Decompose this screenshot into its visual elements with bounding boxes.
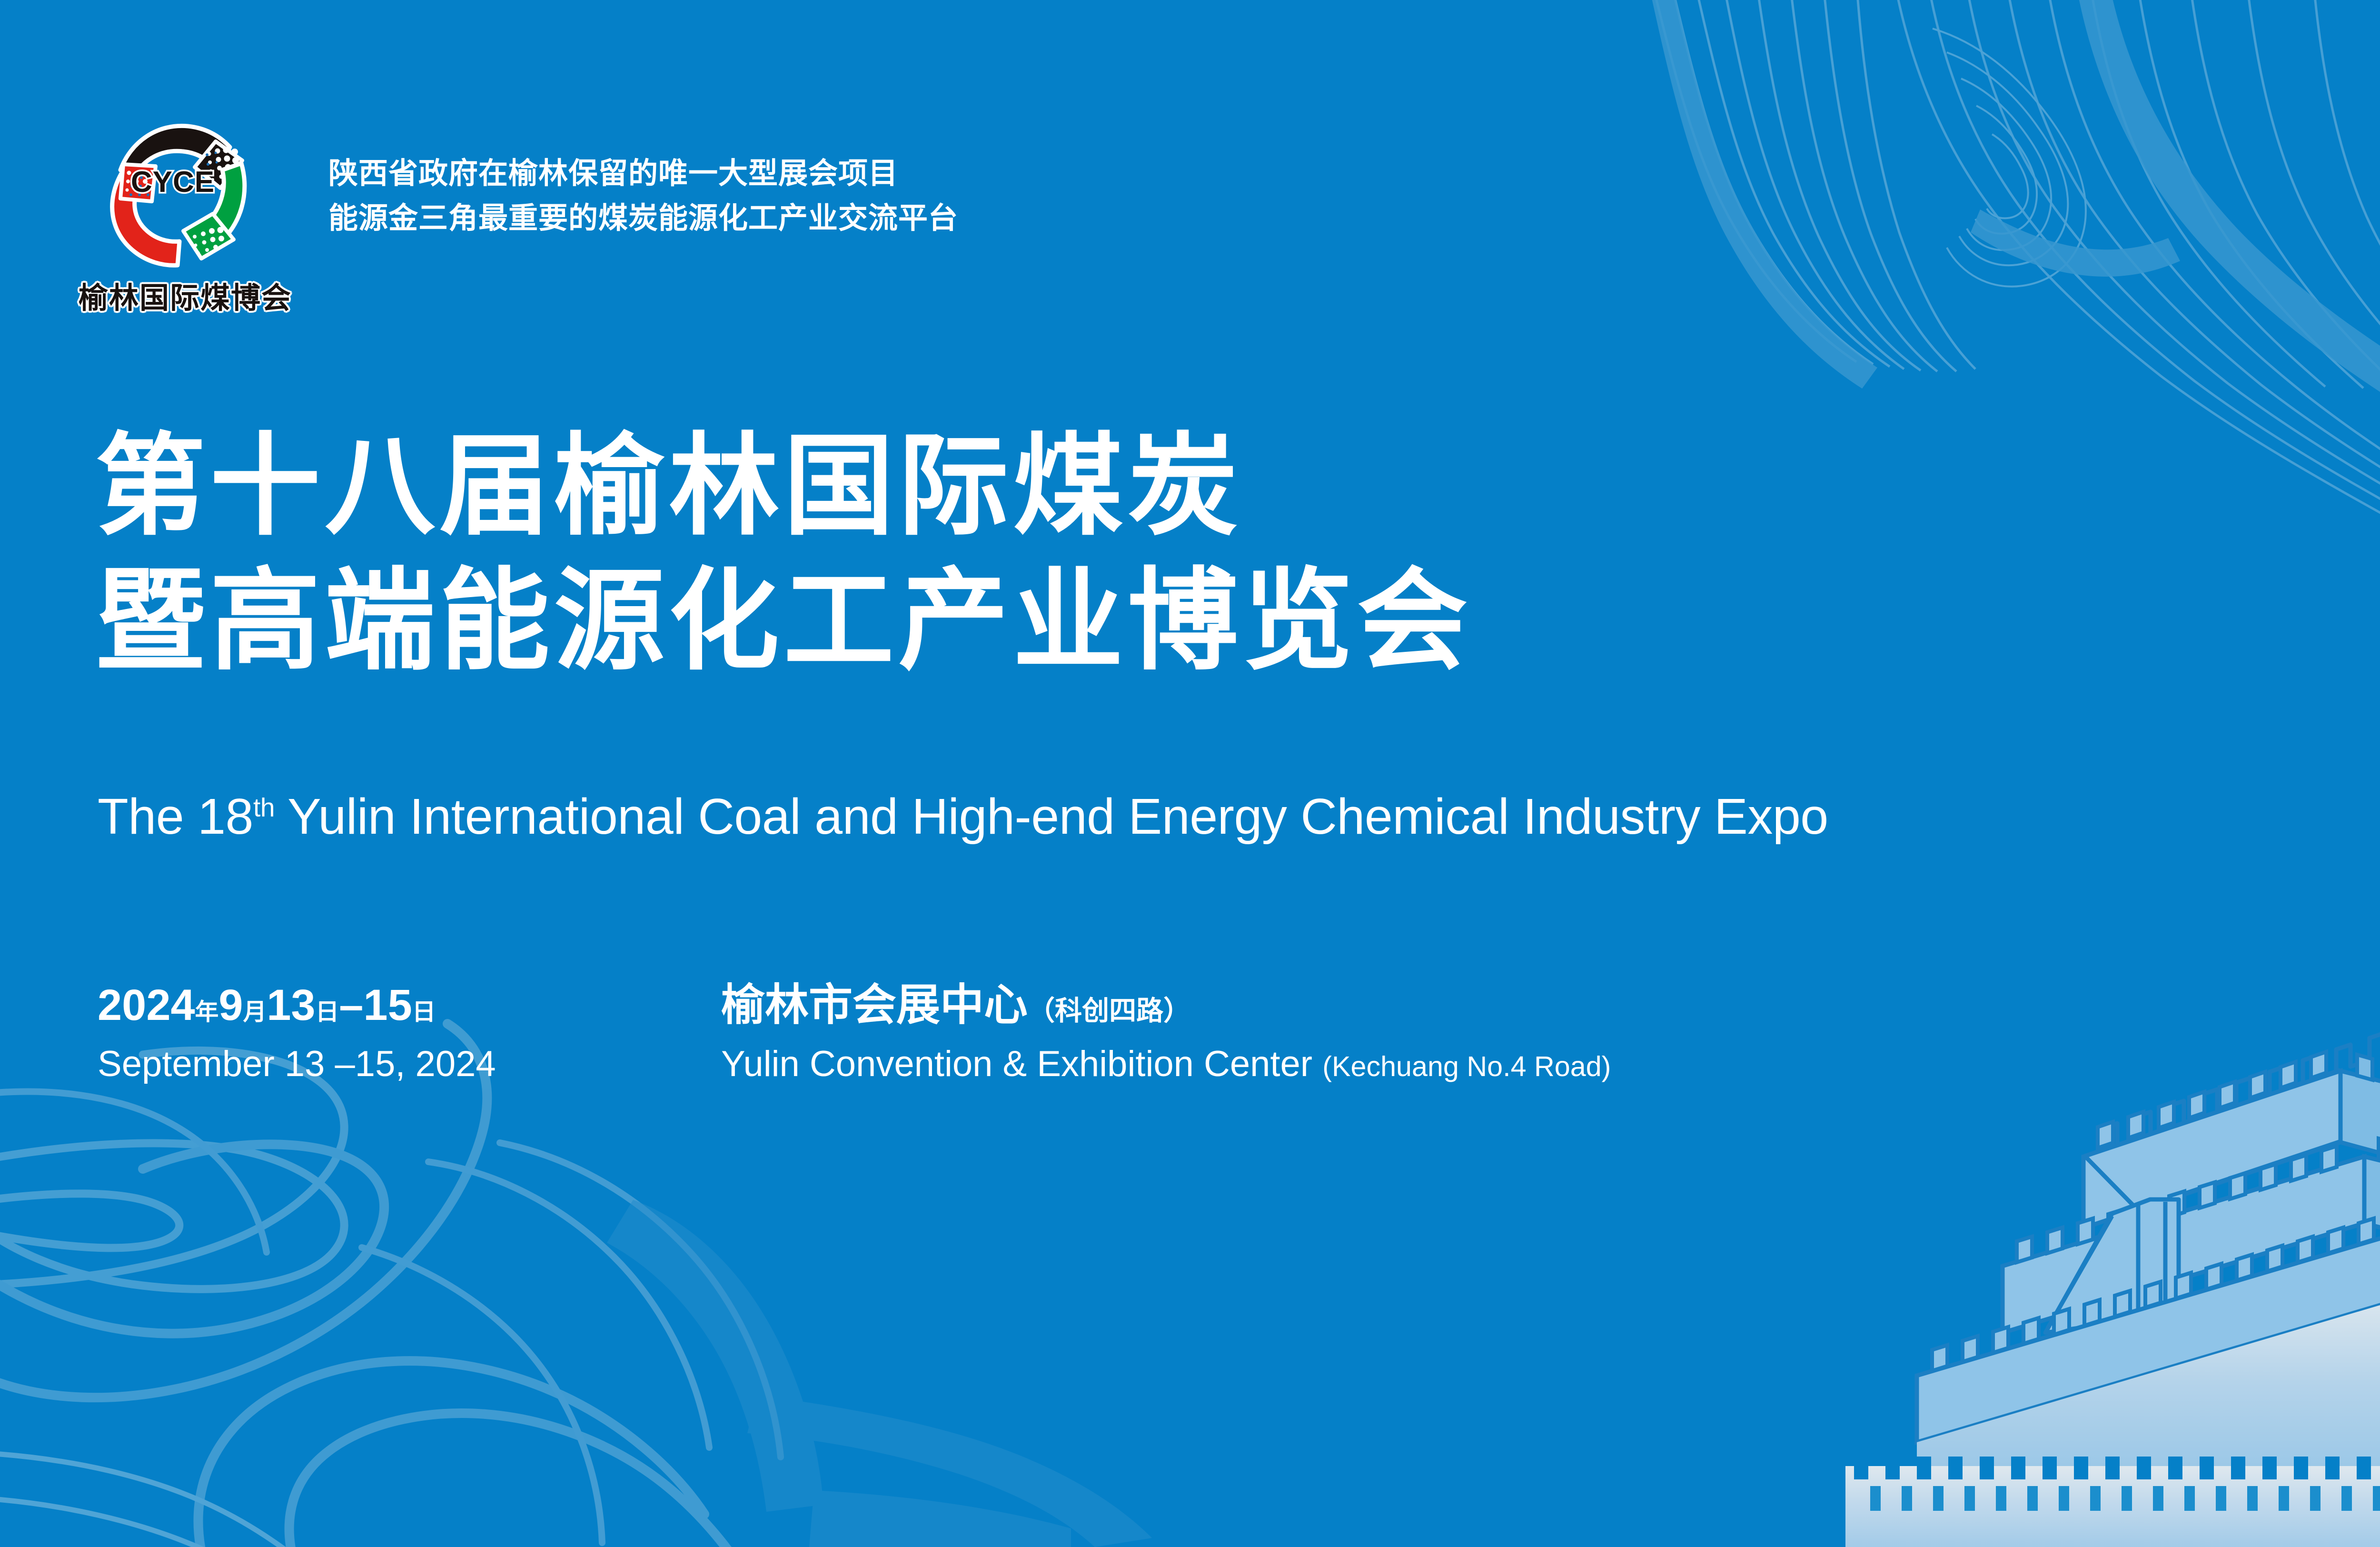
venue-address-en: (Kechuang No.4 Road) bbox=[1322, 1050, 1611, 1082]
title-line-1: 第十八届榆林国际煤炭 bbox=[95, 419, 1472, 554]
event-date-block: 2024年9月13日–15日 September 13 –15, 2024 bbox=[98, 983, 496, 1082]
subtitle-rest: Yulin International Coal and High-end En… bbox=[275, 788, 1828, 845]
logo-caption-cn: 榆林国际煤博会 bbox=[79, 274, 264, 317]
event-date-cn: 2024年9月13日–15日 bbox=[98, 983, 496, 1027]
date-month-unit: 月 bbox=[243, 998, 267, 1025]
venue-name-en-text: Yulin Convention & Exhibition Center bbox=[721, 1044, 1312, 1084]
date-day-unit-2: 日 bbox=[412, 998, 436, 1025]
date-dash: – bbox=[339, 981, 363, 1029]
tagline-line-1: 陕西省政府在榆林保留的唯一大型展会项目 bbox=[328, 151, 958, 196]
poster-canvas: CYCE 榆林国际煤博会 陕西省政府在榆林保留的唯一大型展会项目 能源金三角最重… bbox=[0, 0, 2380, 1547]
event-venue-block: 榆林市会展中心（科创四路） Yulin Convention & Exhibit… bbox=[721, 983, 1611, 1082]
venue-name-cn-text: 榆林市会展中心 bbox=[721, 981, 1028, 1029]
date-year-unit: 年 bbox=[195, 998, 219, 1025]
zhenbei-tower-illustration bbox=[1845, 999, 2380, 1547]
title-line-2: 暨高端能源化工产业博览会 bbox=[95, 554, 1472, 689]
event-logo: CYCE 榆林国际煤博会 bbox=[83, 117, 274, 331]
tagline-block: 陕西省政府在榆林保留的唯一大型展会项目 能源金三角最重要的煤炭能源化工产业交流平… bbox=[328, 151, 958, 241]
venue-name-cn: 榆林市会展中心（科创四路） bbox=[721, 983, 1611, 1027]
date-year: 2024 bbox=[98, 981, 195, 1029]
tagline-line-2: 能源金三角最重要的煤炭能源化工产业交流平台 bbox=[328, 196, 958, 241]
svg-text:CYCE: CYCE bbox=[131, 166, 215, 199]
date-month: 9 bbox=[218, 981, 243, 1029]
contour-lines-bottomleft-decor bbox=[0, 1024, 1152, 1547]
subtitle-prefix: The 18 bbox=[98, 788, 253, 845]
date-day-start: 13 bbox=[267, 981, 315, 1029]
subtitle-ordinal: th bbox=[253, 793, 275, 822]
date-day-unit-1: 日 bbox=[316, 998, 339, 1025]
venue-name-en: Yulin Convention & Exhibition Center (Ke… bbox=[721, 1046, 1611, 1082]
event-subtitle-en: The 18th Yulin International Coal and Hi… bbox=[98, 788, 1828, 846]
venue-address-cn: （科创四路） bbox=[1028, 996, 1190, 1026]
event-title: 第十八届榆林国际煤炭 暨高端能源化工产业博览会 bbox=[95, 419, 1472, 689]
date-day-end: 15 bbox=[363, 981, 412, 1029]
event-date-en: September 13 –15, 2024 bbox=[98, 1046, 496, 1082]
cyce-logo-icon: CYCE bbox=[93, 117, 250, 274]
